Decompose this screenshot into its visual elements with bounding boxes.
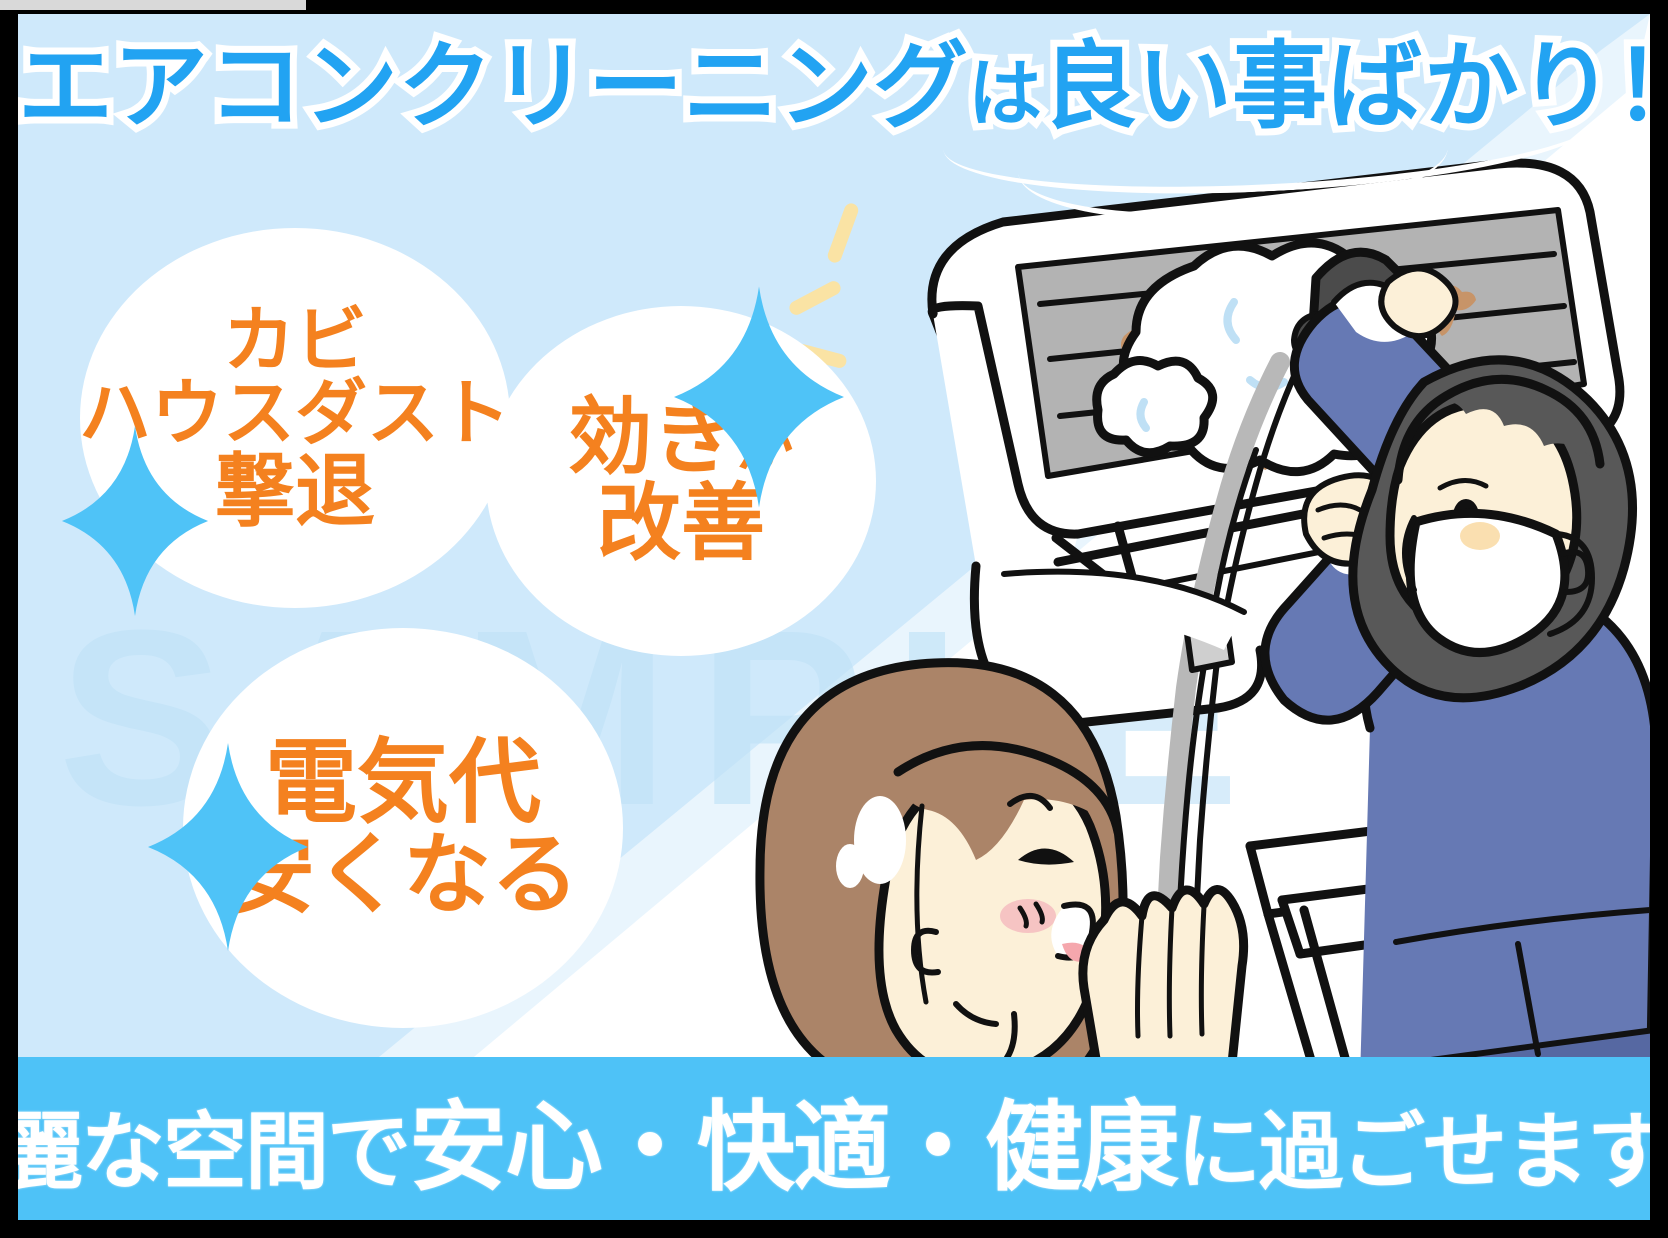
sparkle-icon-left-top [60, 426, 210, 616]
ray-left-1 [826, 201, 860, 264]
sparkle-icon-center [674, 282, 844, 512]
banner-suffix: に過ごせます！ [1177, 1103, 1650, 1201]
sparkle-icon-left-bottom [148, 742, 308, 952]
bubble1-line1: カビ [223, 304, 367, 377]
headline-tail: 良い事ばかり！ [1042, 36, 1650, 139]
bubble1-line3: 撃退 [215, 451, 375, 533]
banner-text: 綺麗な空間で安心・快適・健康に過ごせます！ [18, 1068, 1650, 1210]
top-gray-strip [0, 0, 306, 10]
bottom-banner: 綺麗な空間で安心・快適・健康に過ごせます！ [18, 1057, 1650, 1220]
poster-root: SAMPLE .ol{fill:none;stroke:#111;stroke-… [0, 0, 1668, 1238]
background-diagonal-white [18, 14, 1650, 1220]
headline-particle: は [968, 55, 1042, 135]
headline-main: エアコンクリーニング [18, 36, 968, 139]
headline: エアコンクリーニングは良い事ばかり！ [18, 36, 1650, 139]
poster-stage: SAMPLE .ol{fill:none;stroke:#111;stroke-… [18, 14, 1650, 1220]
banner-emphasis: 安心・快適・健康 [409, 1091, 1177, 1205]
banner-prefix: 綺麗な空間で [18, 1103, 409, 1201]
